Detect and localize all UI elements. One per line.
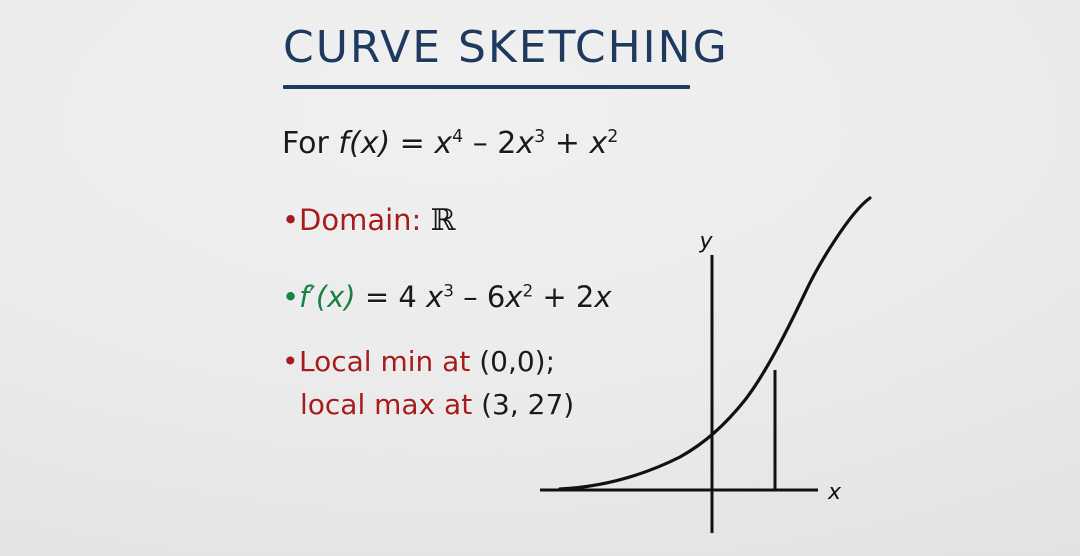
- title-underline-rule: [283, 85, 690, 89]
- curve-sketch-graph: y x: [520, 180, 900, 556]
- bullet-marker-icon: •: [282, 345, 299, 378]
- formula-term3-exponent: 2: [607, 127, 618, 147]
- formula-term1-base: x: [434, 126, 452, 161]
- local-min-label: Local min at: [299, 345, 479, 378]
- derivative-equals: = 4: [356, 280, 426, 314]
- local-max-label: local max at: [300, 388, 481, 421]
- derivative-term1-base: x: [426, 280, 443, 314]
- domain-label: Domain:: [299, 203, 431, 237]
- formula-argument: (x) =: [349, 126, 434, 161]
- function-curve: [560, 198, 870, 489]
- slide-canvas: CURVE SKETCHING For f(x) = x4 – 2x3 + x2…: [0, 0, 1080, 556]
- formula-term2-exponent: 3: [534, 127, 545, 147]
- page-title: CURVE SKETCHING: [283, 26, 693, 70]
- derivative-function-name: f: [299, 280, 309, 314]
- formula-operator-1: – 2: [463, 126, 516, 161]
- derivative-argument: (x): [316, 280, 356, 314]
- derivative-term1-exponent: 3: [443, 280, 454, 300]
- formula-function-name: f: [338, 126, 349, 161]
- bullet-extrema-line-1: •Local min at (0,0);: [282, 345, 555, 378]
- y-axis-label: y: [698, 229, 713, 254]
- bullet-domain: •Domain: ℝ: [282, 203, 455, 238]
- bullet-marker-icon: •: [282, 280, 299, 314]
- formula-operator-2: +: [545, 126, 589, 161]
- derivative-prime-mark: ′: [309, 280, 316, 314]
- bullet-marker-icon: •: [282, 203, 299, 237]
- formula-prefix: For: [282, 126, 338, 161]
- domain-value-real-numbers: ℝ: [431, 203, 456, 238]
- function-definition: For f(x) = x4 – 2x3 + x2: [282, 126, 618, 161]
- formula-term2-base: x: [516, 126, 534, 161]
- derivative-operator-1: – 6: [454, 280, 505, 314]
- formula-term1-exponent: 4: [452, 127, 463, 147]
- page-title-text: CURVE SKETCHING: [283, 26, 693, 70]
- formula-term3-base: x: [589, 126, 607, 161]
- x-axis-label: x: [827, 480, 842, 505]
